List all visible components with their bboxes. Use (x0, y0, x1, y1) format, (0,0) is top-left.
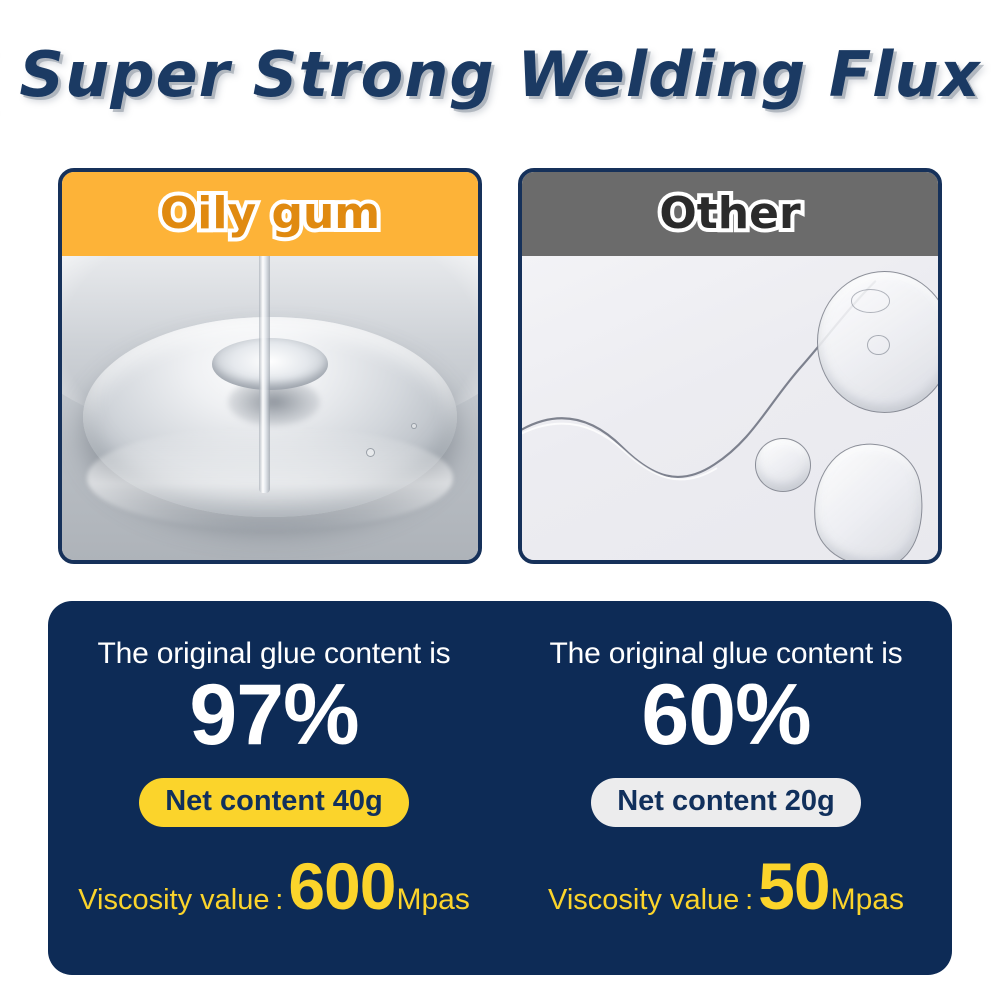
comparison-panels: Oily gum Other (58, 168, 942, 564)
panel-label-oily-gum: Oily gum (160, 192, 380, 236)
viscosity-row: Viscosity value : 50 Mpas (548, 853, 904, 919)
glue-content-caption: The original glue content is (550, 637, 903, 670)
net-content-badge: Net content 40g (139, 778, 409, 827)
glue-content-percent: 60% (641, 672, 810, 760)
product-photo-other (522, 256, 938, 560)
spec-column-oily-gum: The original glue content is 97% Net con… (48, 601, 500, 975)
gel-dome-rim (87, 426, 453, 529)
droplet-highlight (851, 289, 890, 312)
viscosity-unit: Mpas (831, 885, 904, 915)
product-photo-oily-gum (62, 256, 478, 560)
panel-header-oily-gum: Oily gum (62, 172, 478, 256)
page-title-bar: ❮ Super Strong Welding Flux ❯ (0, 36, 1000, 114)
panel-oily-gum: Oily gum (58, 168, 482, 564)
viscosity-label: Viscosity value : (78, 886, 283, 915)
spec-column-other: The original glue content is 60% Net con… (500, 601, 952, 975)
glue-content-caption: The original glue content is (98, 637, 451, 670)
glue-content-percent: 97% (189, 672, 358, 760)
panel-label-other: Other (659, 192, 800, 236)
gel-bubble (366, 448, 375, 457)
gel-pour-stream (259, 256, 270, 493)
panel-other: Other (518, 168, 942, 564)
page-title: Super Strong Welding Flux (19, 44, 980, 106)
viscosity-unit: Mpas (396, 885, 469, 915)
net-content-badge: Net content 20g (591, 778, 861, 827)
viscosity-value: 50 (758, 853, 829, 919)
spec-comparison-card: The original glue content is 97% Net con… (48, 601, 952, 975)
liquid-droplet-small (755, 438, 811, 492)
panel-header-other: Other (522, 172, 938, 256)
gel-impact-crown (212, 338, 328, 390)
viscosity-row: Viscosity value : 600 Mpas (78, 853, 470, 919)
viscosity-value: 600 (288, 853, 395, 919)
viscosity-label: Viscosity value : (548, 886, 753, 915)
